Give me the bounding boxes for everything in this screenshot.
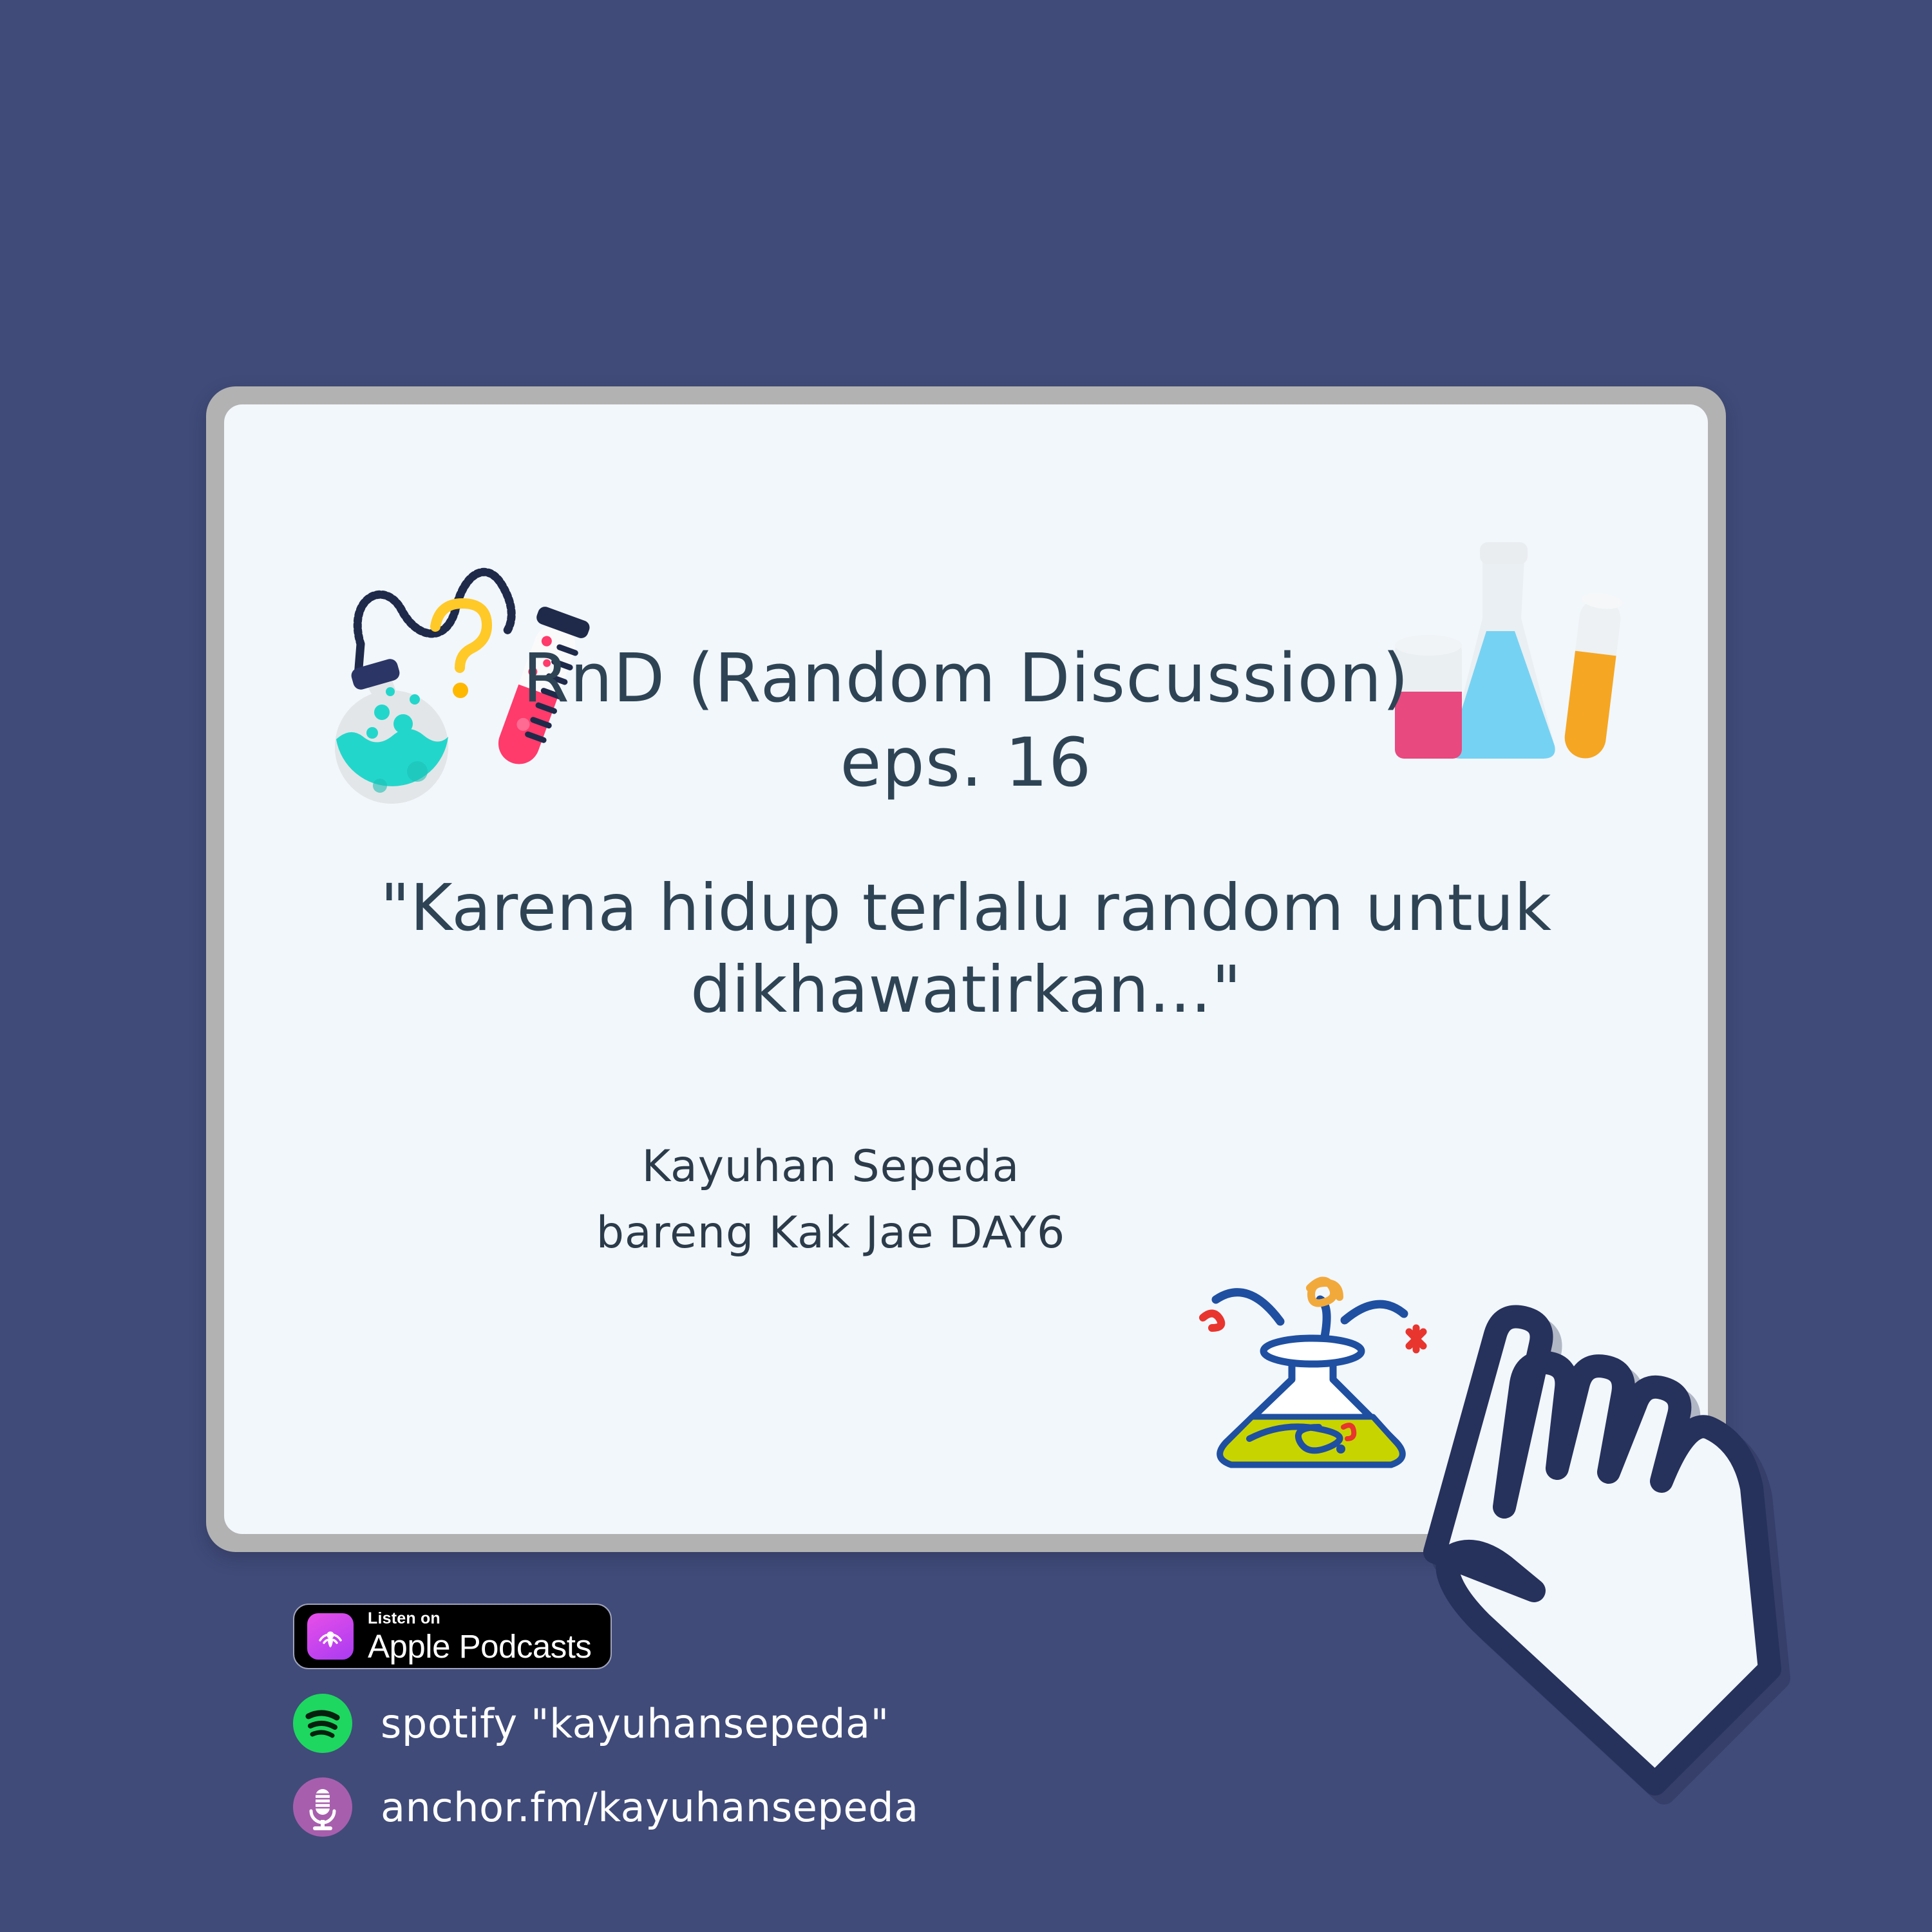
episode-quote: "Karena hidup terlalu random untuk dikha…: [224, 867, 1708, 1030]
anchor-microphone-icon: [293, 1777, 352, 1837]
spotify-handle-label: spotify "kayuhansepeda": [381, 1700, 889, 1747]
whiteboard-card: RnD (Random Discussion) eps. 16 "Karena …: [206, 386, 1726, 1552]
apple-podcasts-label: Listen on Apple Podcasts: [368, 1611, 591, 1663]
credit-block: Kayuhan Sepeda bareng Kak Jae DAY6: [224, 1133, 1437, 1267]
anchor-url-label: anchor.fm/kayuhansepeda: [381, 1784, 919, 1831]
spotify-link-row[interactable]: spotify "kayuhansepeda": [293, 1694, 1323, 1753]
bubbling-flask-icon: [1190, 1261, 1441, 1480]
apple-podcasts-icon: [307, 1613, 354, 1660]
board-text-block: RnD (Random Discussion) eps. 16 "Karena …: [224, 636, 1708, 1267]
listen-links-block: Listen on Apple Podcasts spotify "kayuha…: [293, 1604, 1323, 1837]
spotify-icon: [293, 1694, 352, 1753]
anchor-link-row[interactable]: anchor.fm/kayuhansepeda: [293, 1777, 1323, 1837]
episode-title-line1: RnD (Random Discussion): [224, 636, 1708, 721]
apple-listen-on-text: Listen on: [368, 1611, 591, 1627]
apple-podcasts-text: Apple Podcasts: [368, 1630, 591, 1663]
credit-line1: Kayuhan Sepeda: [224, 1133, 1437, 1200]
credit-line2: bareng Kak Jae DAY6: [224, 1200, 1437, 1266]
apple-podcasts-badge[interactable]: Listen on Apple Podcasts: [293, 1604, 612, 1669]
episode-title-line2: eps. 16: [224, 721, 1708, 805]
whiteboard-surface: RnD (Random Discussion) eps. 16 "Karena …: [224, 404, 1708, 1534]
